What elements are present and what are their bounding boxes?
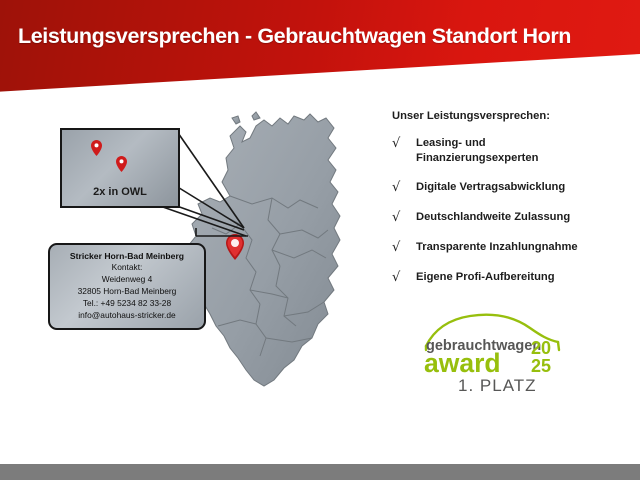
map-pin-icon xyxy=(116,156,127,172)
address-line: Tel.: +49 5234 82 33-28 xyxy=(54,298,200,310)
check-icon: √ xyxy=(392,210,416,226)
slide-root: Leistungsversprechen - Gebrauchtwagen St… xyxy=(0,0,640,480)
owl-inset-label: 2x in OWL xyxy=(62,186,178,198)
promise-item-label: Leasing- und Finanzierungsexperten xyxy=(416,136,538,166)
promise-item-label: Eigene Profi-Aufbereitung xyxy=(416,270,555,285)
promise-item-label: Digitale Vertragsabwicklung xyxy=(416,180,565,195)
promise-item: √ Transparente Inzahlungnahme xyxy=(392,240,632,256)
address-email: info@autohaus-stricker.de xyxy=(54,310,200,322)
check-icon: √ xyxy=(392,240,416,256)
footer-bar xyxy=(0,464,640,480)
award-year-bottom: 25 xyxy=(531,356,551,376)
promise-panel: Unser Leistungsversprechen: √ Leasing- u… xyxy=(392,110,632,301)
promise-list: √ Leasing- und Finanzierungsexperten √ D… xyxy=(392,136,632,287)
promise-item: √ Digitale Vertragsabwicklung xyxy=(392,180,632,196)
award-word-main: award xyxy=(424,348,501,378)
address-line: 32805 Horn-Bad Meinberg xyxy=(54,286,200,298)
promise-item: √ Leasing- und Finanzierungsexperten xyxy=(392,136,632,166)
check-icon: √ xyxy=(392,180,416,196)
owl-inset-box: 2x in OWL xyxy=(60,128,180,208)
address-line: Stricker Horn-Bad Meinberg xyxy=(54,250,200,262)
address-line: Weidenweg 4 xyxy=(54,274,200,286)
promise-title: Unser Leistungsversprechen: xyxy=(392,110,632,122)
map-pin-icon xyxy=(91,140,102,156)
award-year-top: 20 xyxy=(531,338,551,358)
page-title: Leistungsversprechen - Gebrauchtwagen St… xyxy=(18,24,571,49)
gebrauchtwagen-award-logo: gebrauchtwagen award 20 25 1. PLATZ xyxy=(418,306,568,394)
promise-item: √ Eigene Profi-Aufbereitung xyxy=(392,270,632,286)
address-line: Kontakt: xyxy=(54,262,200,274)
promise-item-label: Transparente Inzahlungnahme xyxy=(416,240,578,255)
address-card: Stricker Horn-Bad Meinberg Kontakt: Weid… xyxy=(48,243,206,330)
header: Leistungsversprechen - Gebrauchtwagen St… xyxy=(0,0,640,92)
promise-item-line: Leasing- und xyxy=(416,137,486,149)
check-icon: √ xyxy=(392,270,416,286)
check-icon: √ xyxy=(392,136,416,152)
promise-item-line: Finanzierungsexperten xyxy=(416,152,538,164)
promise-item: √ Deutschlandweite Zulassung xyxy=(392,210,632,226)
brand-logo-strip: Horn Nutzfahrzeuge Service SKODA Service xyxy=(0,404,640,464)
award-place: 1. PLATZ xyxy=(458,376,537,394)
promise-item-label: Deutschlandweite Zulassung xyxy=(416,210,570,225)
